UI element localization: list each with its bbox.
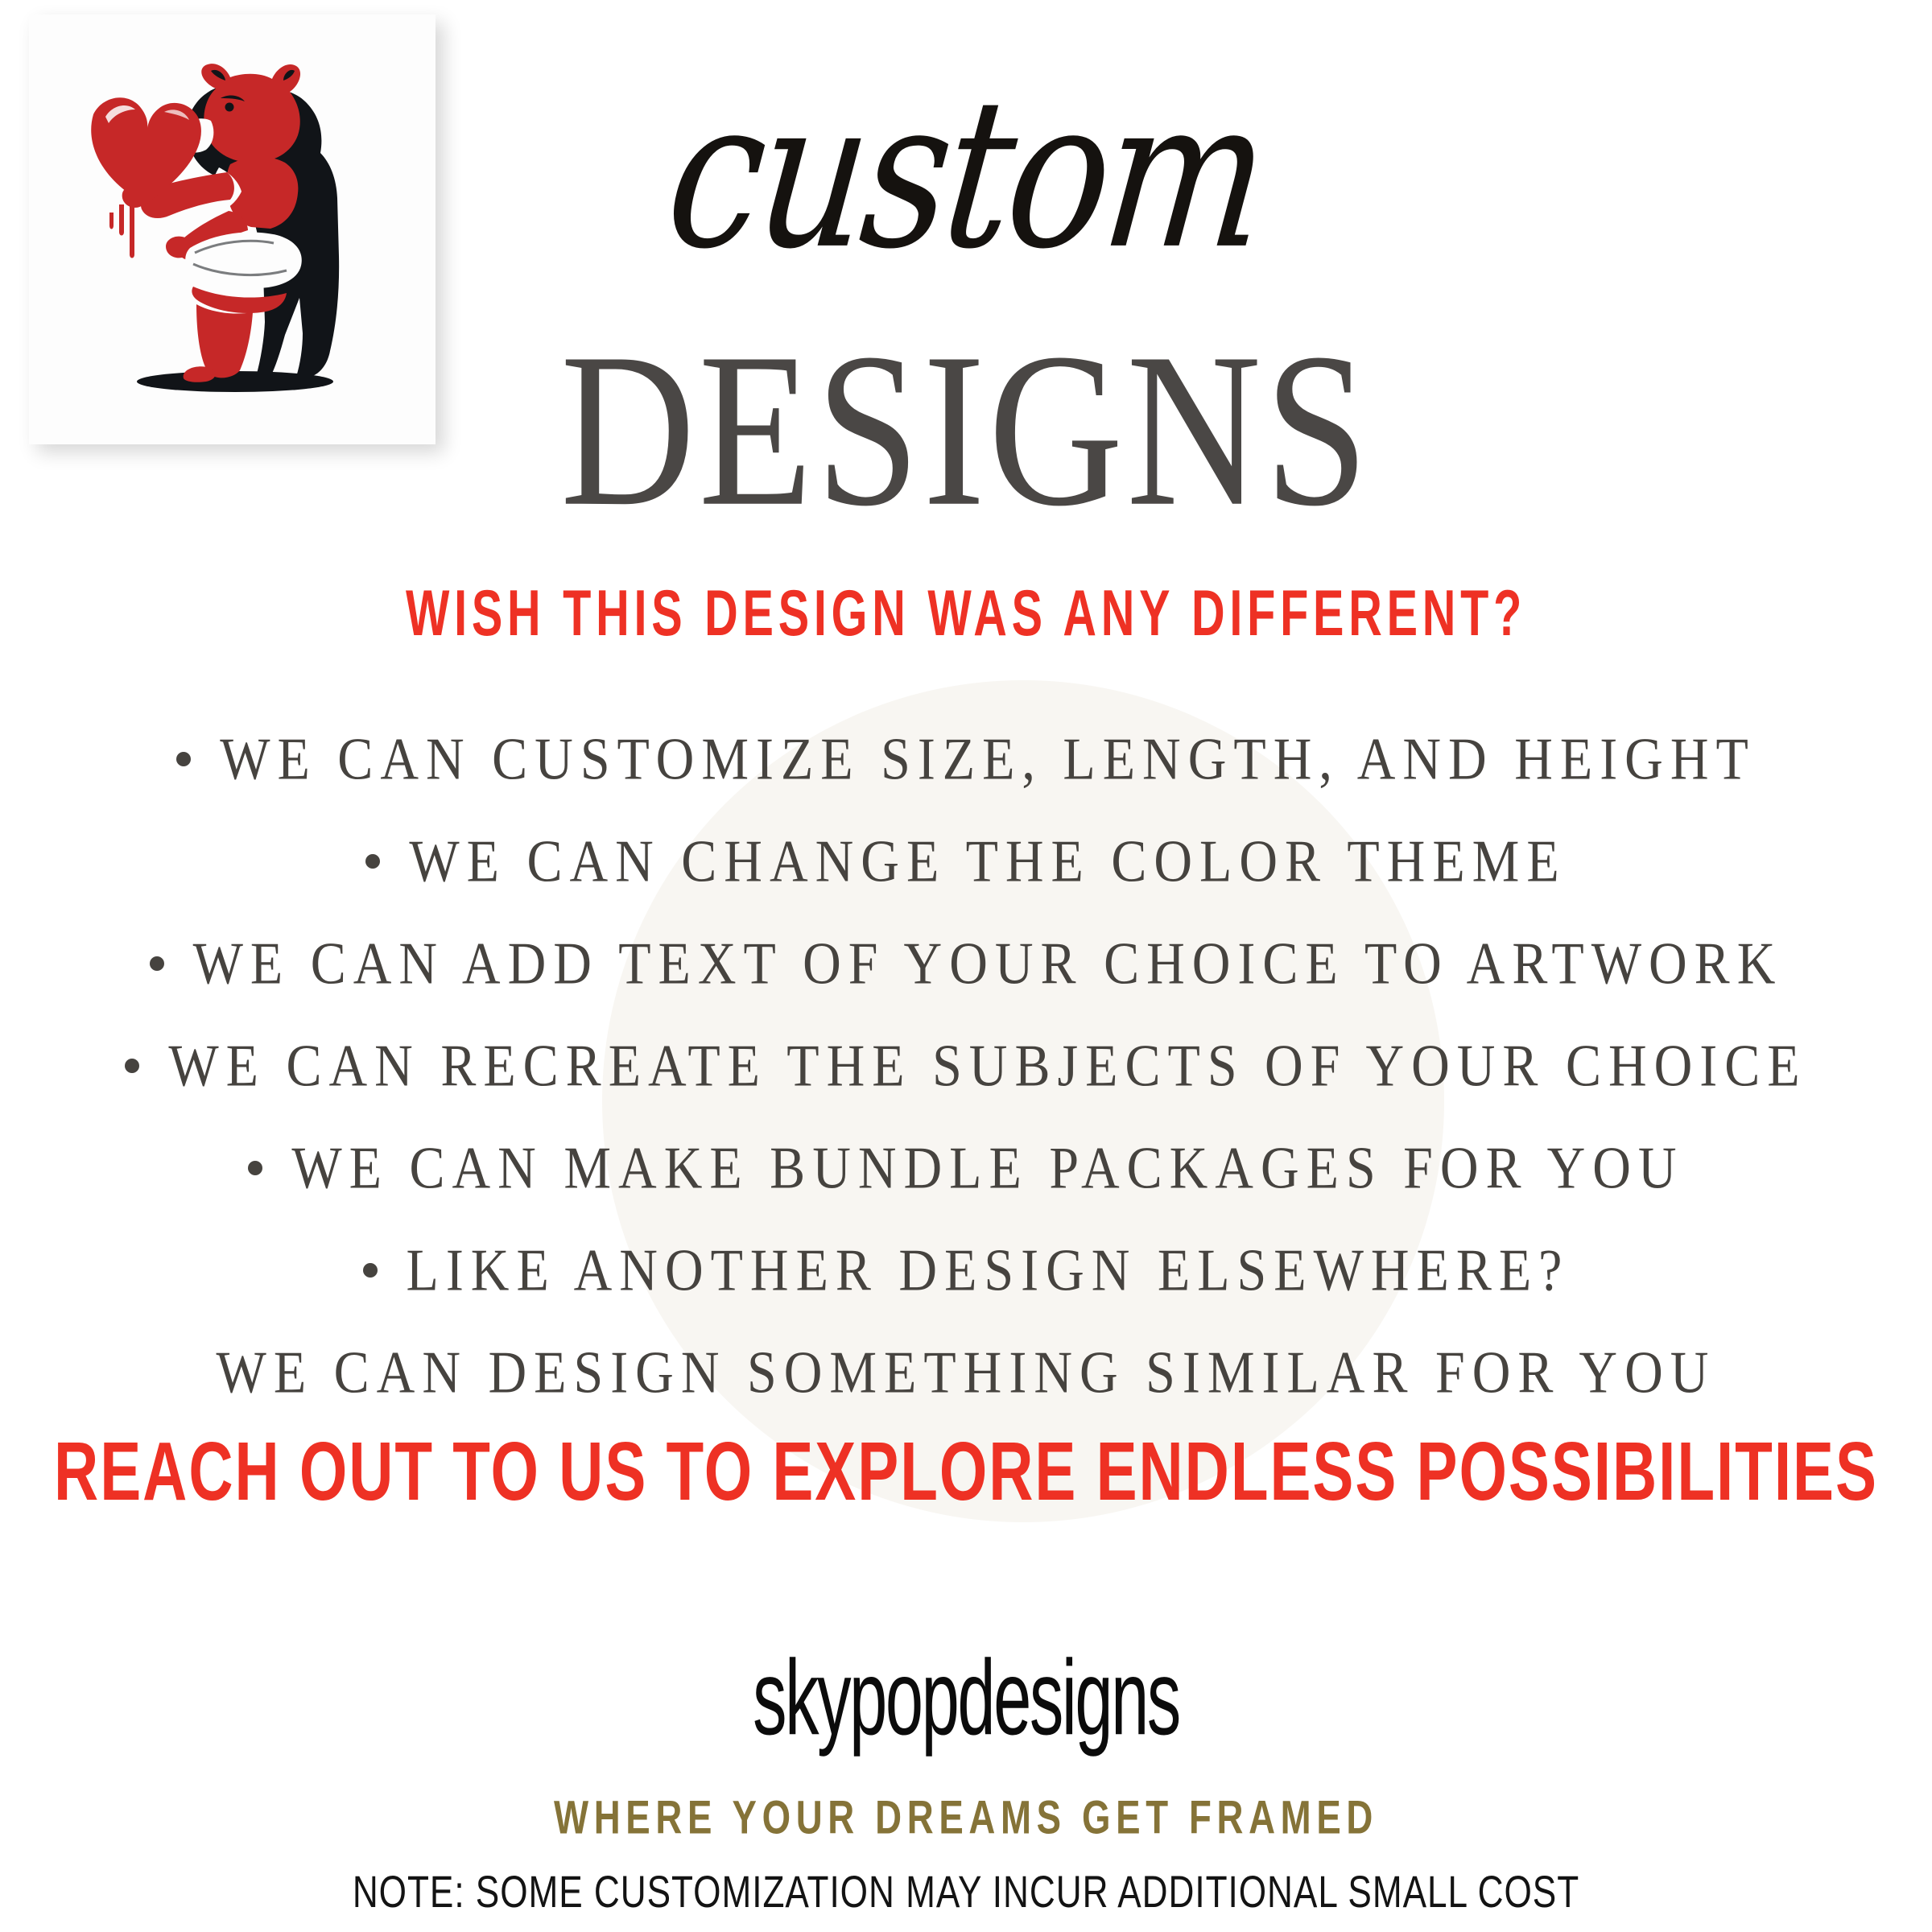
brand-logo-text: skypopdesigns (193, 1645, 1739, 1752)
bear-holding-dripping-heart-balloon-illustration (29, 14, 436, 444)
feature-item: WE CAN DESIGN SOMETHING SIMILAR FOR YOU (0, 1322, 1932, 1424)
feature-item: LIKE ANOTHER DESIGN ELSEWHERE? (0, 1220, 1932, 1322)
framed-art-thumbnail[interactable] (29, 14, 436, 444)
bullet-dot-icon (248, 1161, 262, 1175)
feature-item-label: WE CAN MAKE BUNDLE PACKAGES FOR YOU (291, 1139, 1683, 1199)
bullet-dot-icon (150, 956, 164, 971)
feature-item-label: WE CAN CUSTOMIZE SIZE, LENGTH, AND HEIGH… (220, 730, 1756, 790)
bullet-dot-icon (125, 1059, 139, 1073)
feature-item-inner: WE CAN RECREATE THE SUBJECTS OF YOUR CHO… (125, 1040, 1806, 1093)
feature-item-inner: LIKE ANOTHER DESIGN ELSEWHERE? (363, 1245, 1570, 1298)
feature-item-label: LIKE ANOTHER DESIGN ELSEWHERE? (407, 1241, 1570, 1301)
feature-item: WE CAN MAKE BUNDLE PACKAGES FOR YOU (0, 1117, 1932, 1220)
feature-item-label: WE CAN RECREATE THE SUBJECTS OF YOUR CHO… (168, 1037, 1806, 1096)
brand-tagline: WHERE YOUR DREAMS GET FRAMED (48, 1795, 1884, 1843)
feature-item: WE CAN ADD TEXT OF YOUR CHOICE TO ARTWOR… (0, 913, 1932, 1015)
bullet-dot-icon (176, 752, 191, 766)
feature-item: WE CAN CUSTOMIZE SIZE, LENGTH, AND HEIGH… (0, 708, 1932, 811)
call-to-action-text: REACH OUT TO US TO EXPLORE ENDLESS POSSI… (19, 1430, 1913, 1513)
bullet-dot-icon (363, 1263, 378, 1278)
feature-item-label: WE CAN ADD TEXT OF YOUR CHOICE TO ARTWOR… (193, 935, 1783, 994)
footer-note: NOTE: SOME CUSTOMIZATION MAY INCUR ADDIT… (39, 1869, 1893, 1913)
bullet-dot-icon (365, 854, 380, 869)
feature-item-inner: WE CAN ADD TEXT OF YOUR CHOICE TO ARTWOR… (150, 938, 1783, 991)
feature-item-inner: WE CAN MAKE BUNDLE PACKAGES FOR YOU (248, 1142, 1683, 1195)
feature-item-label: WE CAN DESIGN SOMETHING SIMILAR FOR YOU (217, 1344, 1716, 1403)
features-list: WE CAN CUSTOMIZE SIZE, LENGTH, AND HEIGH… (0, 708, 1932, 1424)
feature-item-inner: WE CAN CHANGE THE COLOR THEME (365, 836, 1566, 889)
feature-item-inner: WE CAN DESIGN SOMETHING SIMILAR FOR YOU (217, 1347, 1716, 1400)
feature-item-inner: WE CAN CUSTOMIZE SIZE, LENGTH, AND HEIGH… (176, 733, 1756, 786)
headline-question: WISH THIS DESIGN WAS ANY DIFFERENT? (39, 575, 1893, 652)
feature-item-label: WE CAN CHANGE THE COLOR THEME (409, 832, 1566, 892)
feature-item: WE CAN RECREATE THE SUBJECTS OF YOUR CHO… (0, 1015, 1932, 1117)
feature-item: WE CAN CHANGE THE COLOR THEME (0, 811, 1932, 913)
